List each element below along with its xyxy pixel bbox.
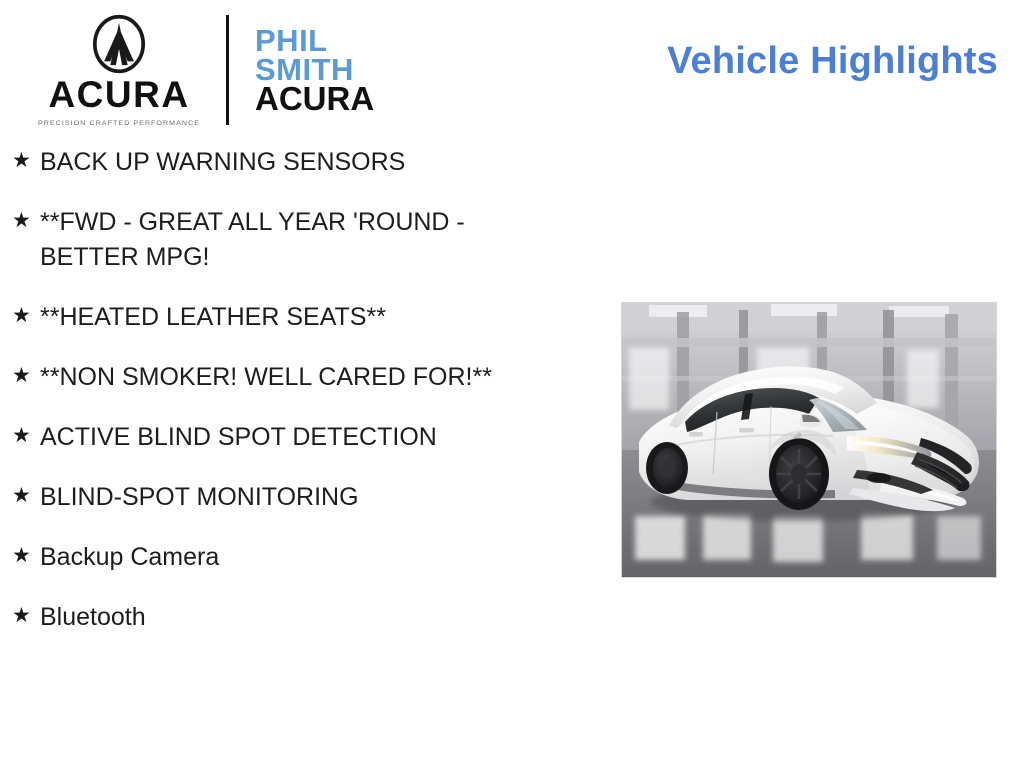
list-item-label: Bluetooth (40, 600, 146, 635)
list-item: ★ Backup Camera (0, 540, 600, 575)
acura-brand-logo: ACURA PRECISION CRAFTED PERFORMANCE (24, 13, 214, 127)
star-bullet-icon: ★ (12, 360, 40, 391)
list-item-label: BACK UP WARNING SENSORS (40, 145, 405, 180)
acura-tagline: PRECISION CRAFTED PERFORMANCE (38, 119, 200, 126)
list-item: ★ **FWD - GREAT ALL YEAR 'ROUND - BETTER… (0, 205, 600, 275)
list-item: ★ BLIND-SPOT MONITORING (0, 480, 600, 515)
star-bullet-icon: ★ (12, 540, 40, 571)
list-item-label: **NON SMOKER! WELL CARED FOR!** (40, 360, 492, 395)
acura-caliper-emblem-icon (88, 13, 150, 75)
vehicle-photo-image (621, 302, 997, 578)
acura-wordmark: ACURA (48, 76, 189, 113)
list-item: ★ ACTIVE BLIND SPOT DETECTION (0, 420, 600, 455)
page-title: Vehicle Highlights (667, 40, 998, 83)
phil-smith-acura-logo: PHIL SMITH ACURA (255, 27, 374, 114)
star-bullet-icon: ★ (12, 205, 40, 236)
list-item: ★ BACK UP WARNING SENSORS (0, 145, 600, 180)
star-bullet-icon: ★ (12, 420, 40, 451)
list-item-label: Backup Camera (40, 540, 219, 575)
vehicle-highlights-list: ★ BACK UP WARNING SENSORS ★ **FWD - GREA… (0, 145, 600, 660)
list-item-label: **FWD - GREAT ALL YEAR 'ROUND - BETTER M… (40, 205, 565, 275)
star-bullet-icon: ★ (12, 300, 40, 331)
star-bullet-icon: ★ (12, 145, 40, 176)
star-bullet-icon: ★ (12, 600, 40, 631)
vertical-divider-icon (226, 15, 229, 125)
star-bullet-icon: ★ (12, 480, 40, 511)
page-header: ACURA PRECISION CRAFTED PERFORMANCE PHIL… (0, 0, 1024, 140)
list-item: ★ **HEATED LEATHER SEATS** (0, 300, 600, 335)
list-item-label: ACTIVE BLIND SPOT DETECTION (40, 420, 437, 455)
vehicle-photo (621, 302, 997, 578)
list-item: ★ Bluetooth (0, 600, 600, 635)
list-item-label: **HEATED LEATHER SEATS** (40, 300, 386, 335)
dealer-logo-line-acura: ACURA (255, 84, 374, 114)
list-item: ★ **NON SMOKER! WELL CARED FOR!** (0, 360, 600, 395)
brand-logo-bar: ACURA PRECISION CRAFTED PERFORMANCE PHIL… (24, 8, 444, 132)
list-item-label: BLIND-SPOT MONITORING (40, 480, 359, 515)
